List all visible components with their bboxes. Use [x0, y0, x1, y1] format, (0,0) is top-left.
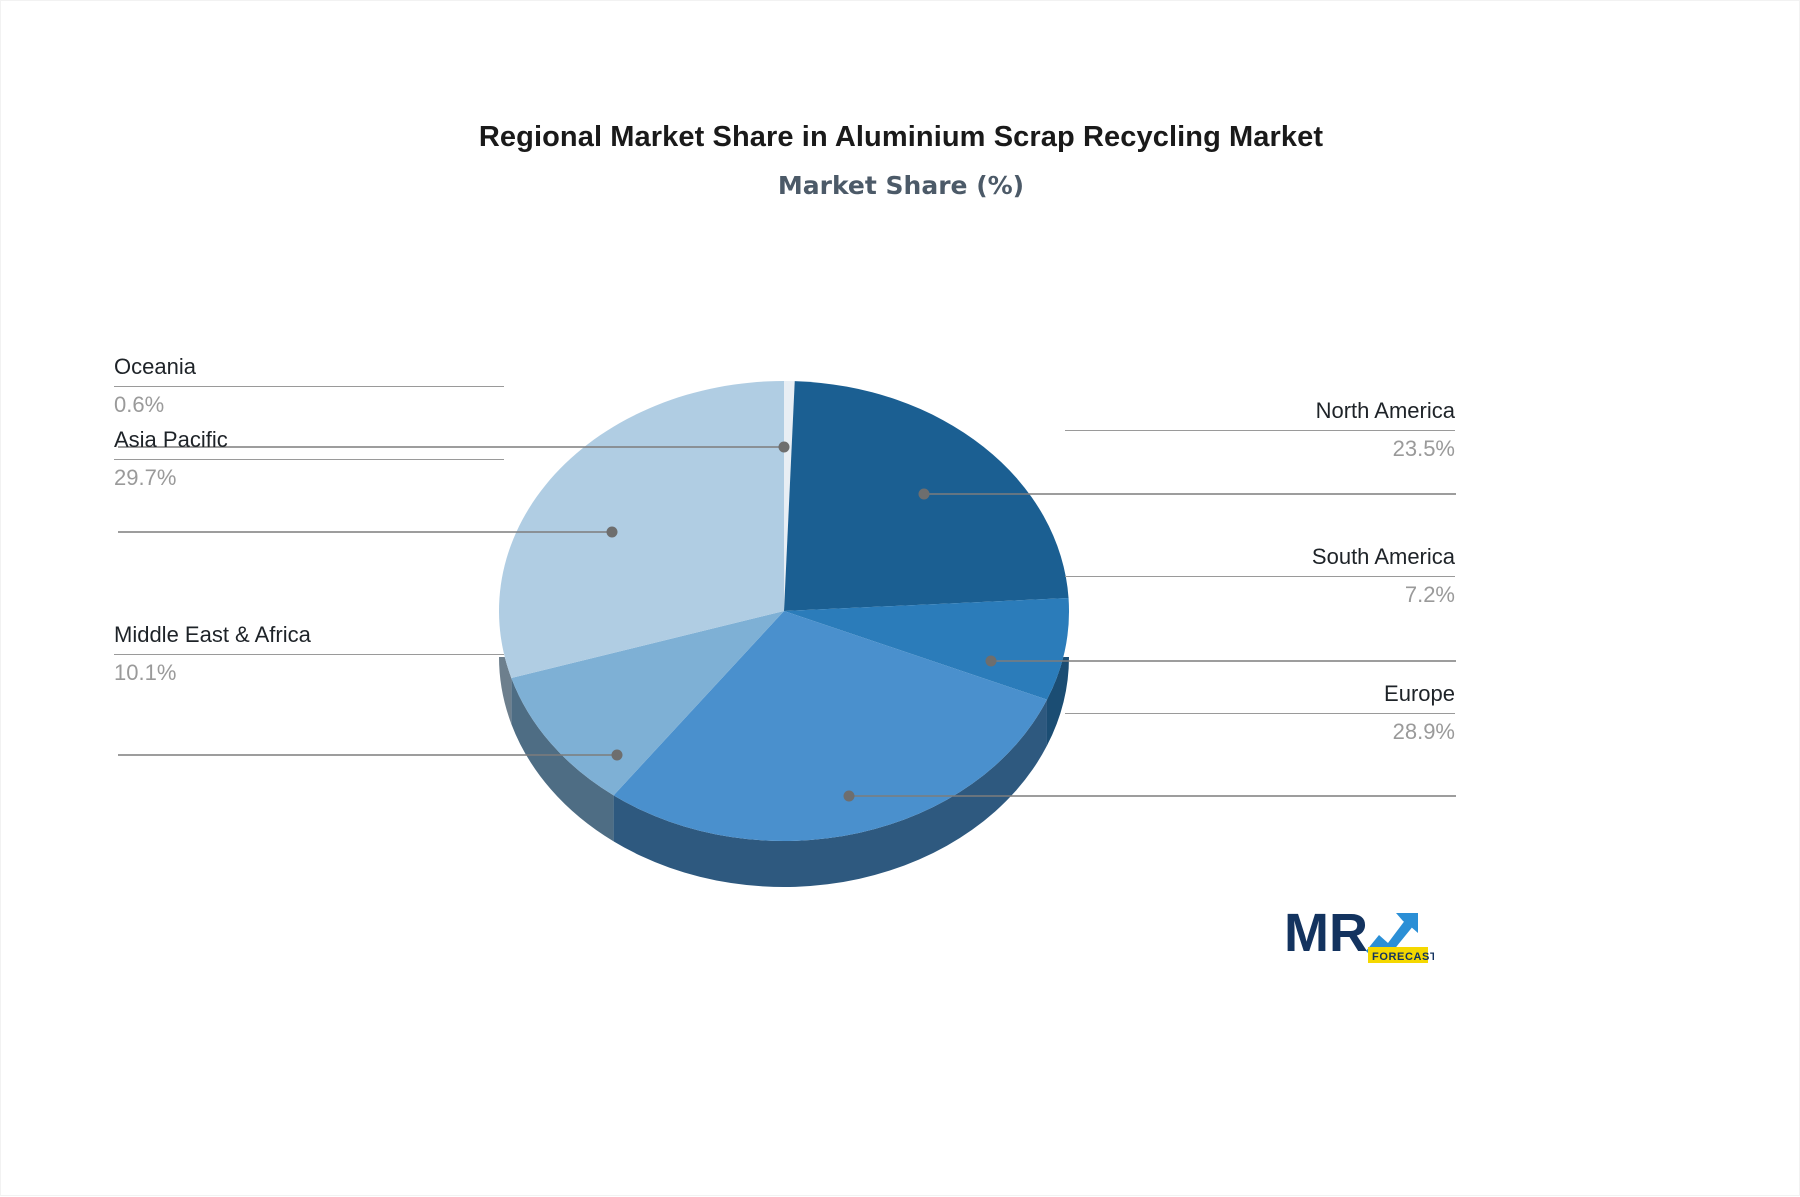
callout-south-america[interactable]: South America 7.2%	[1065, 543, 1455, 609]
callout-north-america-value: 23.5%	[1065, 435, 1455, 463]
callout-asia-pacific-value: 29.7%	[114, 464, 504, 492]
callout-south-america-label: South America	[1065, 543, 1455, 571]
callout-south-america-value: 7.2%	[1065, 581, 1455, 609]
callout-europe[interactable]: Europe 28.9%	[1065, 680, 1455, 746]
callout-asia-pacific-rule	[114, 459, 504, 460]
callout-oceania-rule	[114, 386, 504, 387]
leader-dot-asia-pacific	[607, 527, 618, 538]
callout-europe-rule	[1065, 713, 1455, 714]
callout-oceania[interactable]: Oceania 0.6%	[114, 353, 504, 419]
leader-dot-north-america	[919, 489, 930, 500]
callout-europe-label: Europe	[1065, 680, 1455, 708]
pie-chart[interactable]	[1, 1, 1800, 1197]
logo-svg: MR FORECAST	[1284, 899, 1434, 971]
callout-oceania-value: 0.6%	[114, 391, 504, 419]
callout-middle-east-africa-value: 10.1%	[114, 659, 504, 687]
callout-middle-east-africa[interactable]: Middle East & Africa 10.1%	[114, 621, 504, 687]
callout-south-america-rule	[1065, 576, 1455, 577]
callout-europe-value: 28.9%	[1065, 718, 1455, 746]
callout-asia-pacific-label: Asia Pacific	[114, 426, 504, 454]
leader-dot-south-america	[986, 656, 997, 667]
logo-badge-label: FORECAST	[1372, 951, 1434, 963]
callout-oceania-label: Oceania	[114, 353, 504, 381]
callout-north-america-rule	[1065, 430, 1455, 431]
callout-asia-pacific[interactable]: Asia Pacific 29.7%	[114, 426, 504, 492]
callout-middle-east-africa-rule	[114, 654, 504, 655]
leader-dot-europe	[844, 791, 855, 802]
leader-dot-middle-east-africa	[612, 750, 623, 761]
mr-forecast-logo[interactable]: MR FORECAST	[1284, 899, 1434, 971]
logo-wordmark: MR	[1284, 903, 1368, 963]
callout-north-america[interactable]: North America 23.5%	[1065, 397, 1455, 463]
leader-dot-oceania	[779, 442, 790, 453]
callout-middle-east-africa-label: Middle East & Africa	[114, 621, 504, 649]
chart-canvas: Regional Market Share in Aluminium Scrap…	[0, 0, 1800, 1196]
callout-north-america-label: North America	[1065, 397, 1455, 425]
